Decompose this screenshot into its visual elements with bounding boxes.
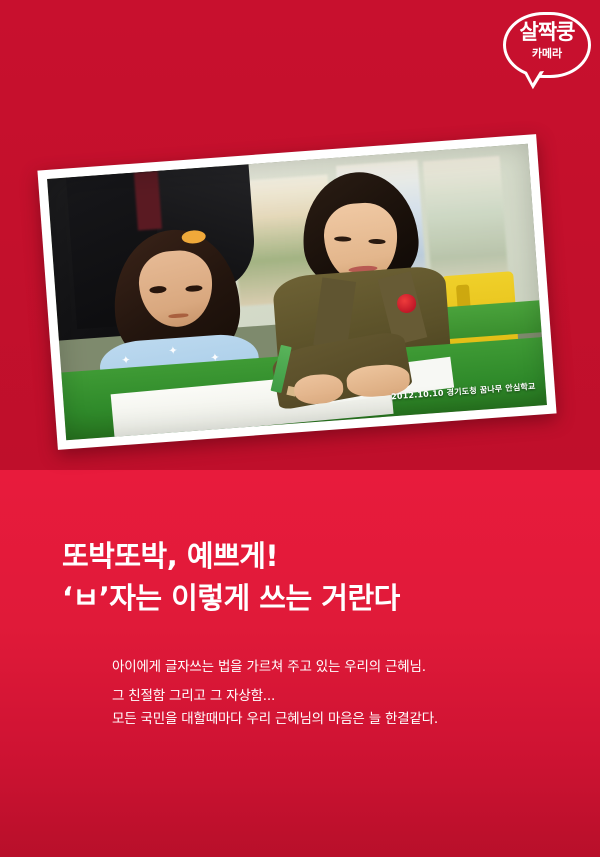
photo-image: ✦ ✦ ✦ ✦ ✦ ✦ ✦ ✦ ✦ ✦ 2012.10.10 경기도청 꿈나무 … xyxy=(47,144,547,441)
brand-logo[interactable]: 살짝쿵 카메라 xyxy=(497,8,597,100)
headline: 또박또박, 예쁘게! ‘ㅂ’자는 이렇게 쓰는 거란다 xyxy=(62,538,562,617)
body-line-1: 아이에게 글자쓰는 법을 가르쳐 주고 있는 우리의 근혜님. xyxy=(112,660,582,674)
body-text: 아이에게 글자쓰는 법을 가르쳐 주고 있는 우리의 근혜님. 그 친절함 그리… xyxy=(112,660,582,727)
body-line-3: 모든 국민을 대할때마다 우리 근혜님의 마음은 늘 한결같다. xyxy=(112,712,582,726)
photo-card[interactable]: ✦ ✦ ✦ ✦ ✦ ✦ ✦ ✦ ✦ ✦ 2012.10.10 경기도청 꿈나무 … xyxy=(37,134,556,450)
headline-line-2: ‘ㅂ’자는 이렇게 쓰는 거란다 xyxy=(62,580,562,618)
logo-sub-text: 카메라 xyxy=(497,48,597,59)
headline-line-1: 또박또박, 예쁘게! xyxy=(62,538,562,576)
speech-bubble-tail-inner-icon xyxy=(526,69,542,83)
body-line-2: 그 친절함 그리고 그 자상함... xyxy=(112,689,582,703)
logo-main-text: 살짝쿵 xyxy=(497,22,597,43)
